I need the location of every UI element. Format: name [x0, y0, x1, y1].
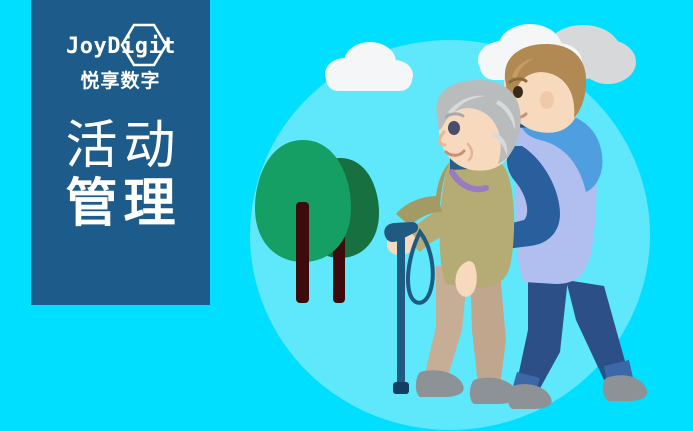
logo-wordmark-text: JoyDigit [66, 34, 176, 59]
activity-management-banner: JoyDigit 悦享数字 活动 管理 [0, 0, 693, 431]
brand-logo: JoyDigit 悦享数字 [58, 22, 184, 91]
cane-shaft [397, 236, 405, 392]
tree-front-trunk [296, 202, 309, 303]
caregiver-eye [513, 86, 523, 98]
elder-eye [448, 121, 460, 135]
title-panel: JoyDigit 悦享数字 活动 管理 [31, 0, 210, 305]
logo-subtitle: 悦享数字 [80, 72, 160, 91]
cane-tip [393, 382, 409, 394]
page-title-line1: 活动 [59, 117, 181, 175]
logo-wordmark-with-hexagon: JoyDigit [58, 22, 184, 68]
page-title: 活动 管理 [59, 117, 181, 233]
page-title-line2: 管理 [59, 175, 181, 233]
caregiver-ear [540, 91, 554, 109]
